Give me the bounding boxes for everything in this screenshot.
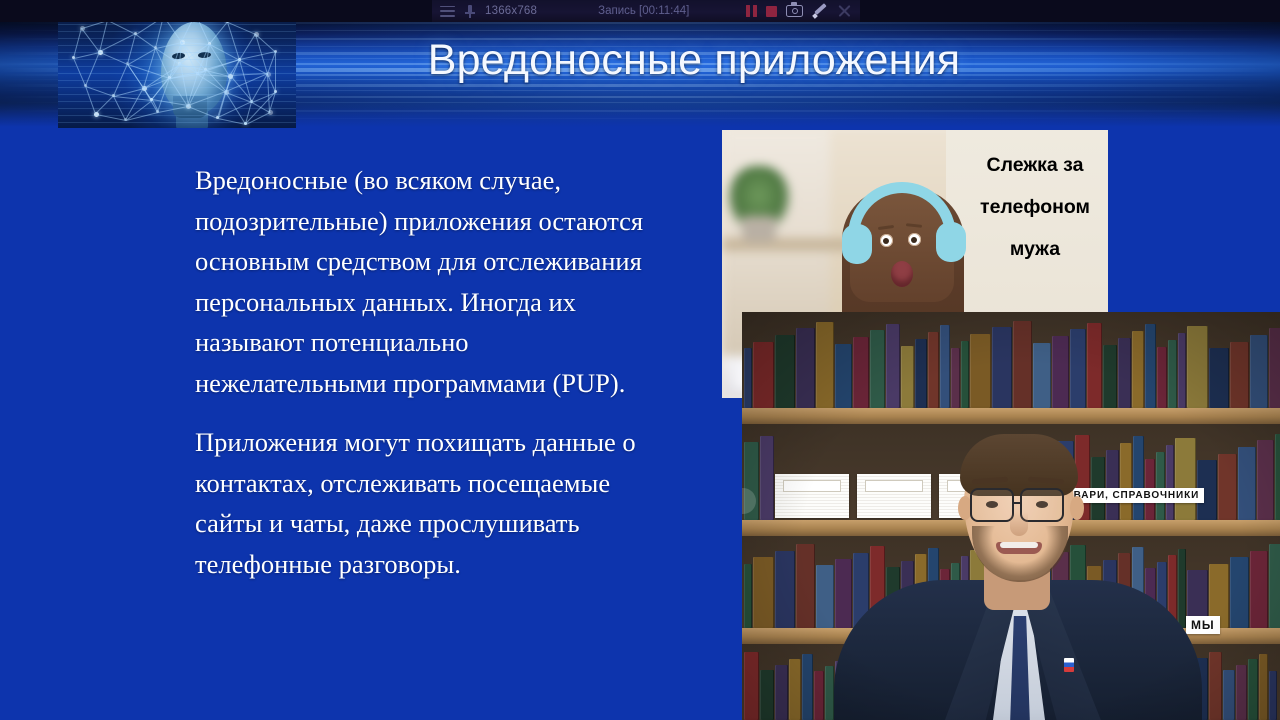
presenter-hair	[960, 434, 1078, 496]
recording-status-label: Запись [00:11:44]	[598, 5, 689, 17]
pause-button[interactable]	[746, 5, 757, 17]
book-spine	[816, 322, 834, 408]
logo-network-link	[95, 95, 114, 114]
book-spine	[775, 335, 795, 408]
paragraph-1: Вредоносные (во всяком случае, подозрите…	[195, 160, 645, 403]
book-spine	[1269, 328, 1280, 408]
book-spine	[1145, 324, 1156, 408]
book-spine	[835, 559, 852, 628]
presenter-figure	[868, 430, 1168, 720]
book-spine	[886, 324, 900, 408]
book-spine	[1175, 438, 1196, 520]
draw-button[interactable]	[812, 4, 828, 19]
book-spine	[1269, 671, 1277, 720]
book-spine	[961, 341, 969, 408]
logo-scanline	[58, 87, 296, 88]
book-spine	[1230, 342, 1249, 408]
presenter-flag-pin	[1064, 658, 1074, 672]
book-spine	[1103, 345, 1117, 408]
book-spine	[992, 327, 1012, 408]
book-spine	[760, 670, 774, 720]
recording-resolution-label: 1366x768	[485, 5, 537, 17]
logo-network-link	[108, 20, 136, 35]
book-spine	[853, 337, 869, 408]
book-spine	[1157, 347, 1167, 408]
page-title: Вредоносные приложения	[0, 36, 1280, 85]
book-spine	[814, 671, 824, 720]
book-spine	[825, 666, 834, 720]
logo-scanline	[58, 31, 296, 32]
book-spine	[901, 346, 914, 408]
book-spine	[789, 659, 801, 720]
book-spine	[940, 325, 950, 408]
book-spine	[1238, 447, 1256, 520]
presenter-teeth	[1000, 542, 1038, 548]
screenshot-button[interactable]	[786, 5, 803, 17]
logo-scanline	[58, 94, 296, 95]
book-spine	[1209, 652, 1222, 720]
book-spine	[1250, 551, 1268, 628]
book-spine	[1259, 654, 1268, 720]
logo-scanline	[58, 108, 296, 109]
logo-scanline	[58, 122, 296, 123]
camera-icon	[786, 5, 803, 17]
book-spine	[835, 344, 852, 408]
book-spine	[1275, 434, 1280, 520]
stop-icon	[766, 6, 777, 17]
book-spine	[753, 557, 774, 628]
book-spine	[915, 339, 927, 408]
webcam-overlay[interactable]: ОВАРИ, СПРАВОЧНИКИ МЫ	[742, 312, 1280, 720]
book-spine	[796, 328, 815, 408]
book-spine	[1223, 670, 1235, 720]
book-spine	[1269, 544, 1280, 628]
book-spine	[1248, 659, 1258, 720]
book-spine	[1250, 335, 1268, 408]
shelf-board	[742, 408, 1280, 424]
glasses-bridge	[1014, 502, 1022, 504]
meme-woman-pupil-left	[883, 238, 889, 244]
stop-button[interactable]	[766, 6, 777, 17]
book-spine	[816, 565, 834, 628]
book-spine	[1230, 557, 1249, 628]
logo-scanline	[58, 24, 296, 25]
book-spine	[744, 652, 759, 720]
book-spine	[1218, 454, 1237, 520]
page-title-text: Вредоносные приложения	[320, 36, 961, 85]
meme-woman-mouth	[891, 261, 913, 287]
book-spine	[775, 551, 795, 628]
book-spine	[753, 342, 774, 408]
book-spine	[1052, 336, 1069, 408]
pencil-icon	[812, 4, 828, 19]
shelf-tag-secondary: МЫ	[1186, 616, 1220, 634]
book-spine	[775, 665, 788, 720]
book-spine	[760, 436, 774, 520]
book-spine	[796, 544, 815, 628]
logo-scanline	[58, 115, 296, 116]
book-spine	[744, 564, 752, 628]
hamburger-icon[interactable]	[440, 6, 455, 17]
stack-label	[783, 480, 841, 492]
paragraph-2: Приложения могут похищать данные о конта…	[195, 422, 645, 584]
book-spine	[928, 332, 939, 408]
book-spine	[1033, 343, 1051, 408]
book-spine	[951, 348, 960, 408]
logo-scanline	[58, 101, 296, 102]
book-spine	[1209, 348, 1229, 408]
screen-recorder-toolbar: 1366x768 Запись [00:11:44]	[0, 0, 1280, 22]
book-spine	[1013, 321, 1032, 408]
close-button[interactable]	[837, 4, 852, 19]
pin-icon[interactable]	[464, 5, 476, 18]
book-spine	[744, 348, 752, 408]
book-spine	[1187, 326, 1208, 408]
slide-body-text: Вредоносные (во всяком случае, подозрите…	[195, 160, 645, 584]
book-spine	[1236, 665, 1247, 720]
close-icon	[837, 4, 852, 19]
book-spine	[1178, 549, 1186, 628]
meme-caption: Слежка за телефоном мужа	[962, 144, 1108, 270]
book-spine	[1178, 333, 1186, 408]
recorder-toolbar-panel: 1366x768 Запись [00:11:44]	[432, 0, 860, 22]
book-spine	[802, 654, 813, 720]
glasses-lens-left	[970, 488, 1014, 522]
book-spine	[970, 334, 991, 408]
pause-icon	[746, 5, 757, 17]
book-spine	[1087, 323, 1102, 408]
book-spine	[1118, 338, 1131, 408]
book-spine	[1070, 329, 1086, 408]
presenter-ear-right	[1070, 496, 1084, 520]
meme-caption-line-2: телефоном	[962, 186, 1108, 228]
meme-caption-line-3: мужа	[962, 228, 1108, 270]
book-spine	[1132, 331, 1144, 408]
book-spine	[870, 330, 885, 408]
slide-screen-recording: Вредоносные приложения Вредоносные (во в…	[0, 0, 1280, 720]
meme-plant-pot	[742, 216, 776, 242]
book-spine	[1168, 340, 1177, 408]
book-spine	[1257, 440, 1274, 520]
meme-caption-line-1: Слежка за	[962, 144, 1108, 186]
